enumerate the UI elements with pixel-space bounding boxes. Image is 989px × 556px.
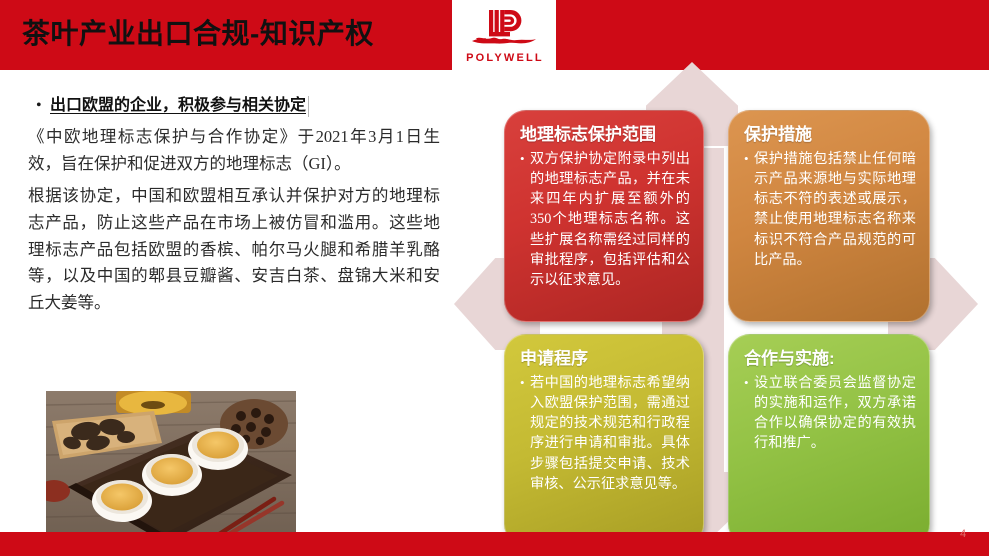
card-scope-body: • 双方保护协定附录中列出的地理标志产品，并在未来四年内扩展至额外的350个地理…	[520, 149, 690, 291]
page-title: 茶叶产业出口合规-知识产权	[22, 12, 374, 52]
card-measures-body: • 保护措施包括禁止任何暗示产品来源地与实际地理标志不符的表述或展示，禁止使用地…	[744, 149, 916, 271]
card-scope-title: 地理标志保护范围	[520, 125, 690, 145]
page-number: 4	[960, 528, 966, 540]
paragraph-2: 根据该协定，中国和欧盟相互承认并保护对方的地理标志产品，防止这些产品在市场上被仿…	[28, 183, 440, 317]
card-cooperation-body: • 设立联合委员会监督协定的实施和运作，双方承诺合作以确保协定的有效执行和推广。	[744, 373, 916, 454]
card-application-title: 申请程序	[520, 349, 690, 369]
card-application-text: 若中国的地理标志希望纳入欧盟保护范围，需通过规定的技术规范和行政程序进行申请和审…	[528, 373, 690, 495]
card-scope[interactable]: 地理标志保护范围 • 双方保护协定附录中列出的地理标志产品，并在未来四年内扩展至…	[504, 110, 704, 322]
card-application-bullet-icon: •	[520, 373, 528, 392]
card-cooperation-title: 合作与实施:	[744, 349, 916, 369]
card-cooperation-bullet-icon: •	[744, 373, 752, 392]
tea-cup-3	[188, 428, 248, 470]
card-application-body: • 若中国的地理标志希望纳入欧盟保护范围，需通过规定的技术规范和行政程序进行申请…	[520, 373, 690, 495]
card-measures-title: 保护措施	[744, 125, 916, 145]
card-cooperation-text: 设立联合委员会监督协定的实施和运作，双方承诺合作以确保协定的有效执行和推广。	[752, 373, 916, 454]
card-scope-bullet-icon: •	[520, 149, 528, 168]
card-measures-text: 保护措施包括禁止任何暗示产品来源地与实际地理标志不符的表述或展示，禁止使用地理标…	[752, 149, 916, 271]
card-cooperation[interactable]: 合作与实施: • 设立联合委员会监督协定的实施和运作，双方承诺合作以确保协定的有…	[728, 334, 930, 546]
four-quadrant-diagram: 地理标志保护范围 • 双方保护协定附录中列出的地理标志产品，并在未来四年内扩展至…	[440, 62, 989, 556]
tea-photograph: 含白听茶传奇	[46, 391, 296, 549]
card-scope-text: 双方保护协定附录中列出的地理标志产品，并在未来四年内扩展至额外的350个地理标志…	[528, 149, 690, 291]
slide-canvas: 茶叶产业出口合规-知识产权 POLYWELL • 出口欧盟的企业，积极参与相关协…	[0, 0, 989, 556]
bullet-heading-text: 出口欧盟的企业，积极参与相关协定	[50, 96, 309, 117]
card-measures-bullet-icon: •	[744, 149, 752, 168]
footer-band	[0, 532, 989, 556]
paragraph-1: 《中欧地理标志保护与合作协定》于2021年3月1日生效，旨在保护和促进双方的地理…	[28, 124, 440, 177]
card-measures[interactable]: 保护措施 • 保护措施包括禁止任何暗示产品来源地与实际地理标志不符的表述或展示，…	[728, 110, 930, 322]
polywell-p-icon	[469, 6, 539, 52]
brand-logo: POLYWELL	[452, 0, 556, 70]
tea-cup-1	[92, 480, 152, 522]
bullet-heading-row: • 出口欧盟的企业，积极参与相关协定	[28, 96, 440, 117]
card-application[interactable]: 申请程序 • 若中国的地理标志希望纳入欧盟保护范围，需通过规定的技术规范和行政程…	[504, 334, 704, 546]
bullet-marker-icon: •	[28, 98, 50, 114]
tea-photo-illustration	[46, 391, 296, 549]
left-content-column: • 出口欧盟的企业，积极参与相关协定 《中欧地理标志保护与合作协定》于2021年…	[28, 96, 440, 321]
